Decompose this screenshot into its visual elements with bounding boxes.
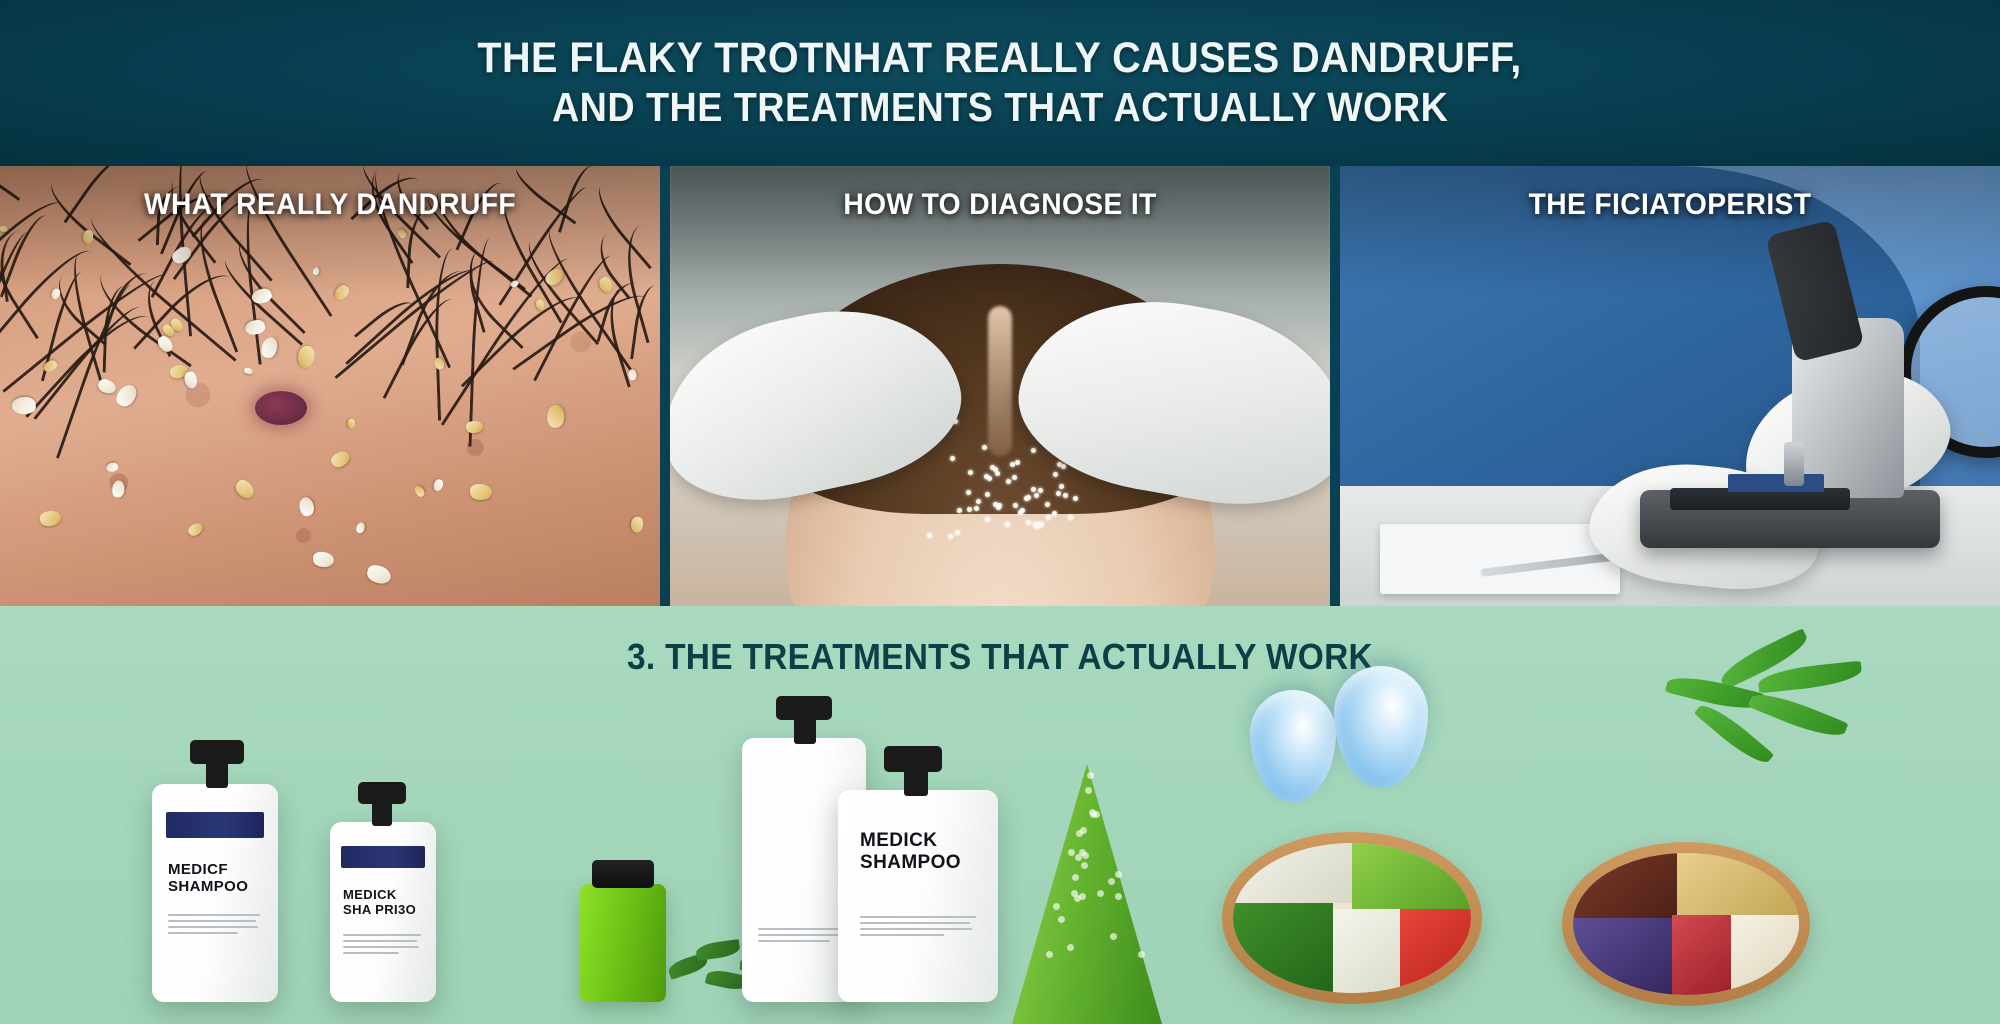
scalp-flake: [1026, 520, 1031, 525]
bottle-label-line-2: SHAMPOO: [168, 879, 248, 896]
aloe-spot: [1076, 830, 1083, 837]
aloe-spot: [1046, 951, 1053, 958]
scalp-flake: [1018, 510, 1023, 515]
aloe-spot: [1085, 787, 1092, 794]
bottle-label-band: [166, 812, 264, 838]
scalp-flake: [955, 530, 960, 535]
panel-scrim: [1340, 166, 2000, 296]
aloe-spot: [1058, 916, 1065, 923]
aloe-spot: [1053, 903, 1060, 910]
bottle-label-line-2: SHA PRI3O: [343, 903, 416, 918]
aloe-spot: [1108, 878, 1115, 885]
infographic-page: THE FLAKY TROTNHAT REALLY CAUSES DANDRUF…: [0, 0, 2000, 1024]
aloe-spot: [1138, 951, 1145, 958]
aloe-spot: [1075, 854, 1082, 861]
treatments-section: 3. THE TREATMENTS THAT ACTUALLY WORK MED…: [0, 606, 2000, 1024]
berry-nut-bowl-contents: [1573, 853, 1799, 995]
shampoo-bottle-small-left[interactable]: MEDICK SHA PRI3O: [330, 822, 436, 1002]
bottle-label-line-1: MEDICF: [168, 862, 228, 879]
bottle-fineprint: [758, 928, 848, 942]
water-droplet-right: [1334, 666, 1428, 788]
scalp-flake: [1068, 515, 1073, 520]
dandruff-flake: [546, 405, 564, 429]
panel-scrim: [670, 166, 1330, 296]
scalp-flake: [997, 503, 1002, 508]
scalp-flake: [1024, 496, 1029, 501]
header-title-line-2: AND THE TREATMENTS THAT ACTUALLY WORK: [552, 87, 1448, 129]
water-droplet-left: [1250, 690, 1336, 802]
scalp-flake: [1056, 491, 1061, 496]
aloe-spot: [1115, 871, 1122, 878]
panel-scrim: [0, 166, 660, 296]
bottle-fineprint: [860, 916, 976, 936]
panel-how-to-diagnose[interactable]: HOW TO DIAGNOSE IT: [670, 166, 1330, 606]
scalp-flake: [1010, 462, 1015, 467]
shampoo-bottle-large-left[interactable]: MEDICF SHAMPOO: [152, 784, 278, 1002]
panel-row: WHAT REALLY DANDRUFF HOW TO DIAGNOSE IT: [0, 166, 2000, 606]
scalp-flake: [948, 534, 953, 539]
bottle-fineprint: [343, 934, 421, 954]
bottle-label-line-1: MEDICK: [860, 830, 937, 851]
aloe-spot: [1110, 933, 1117, 940]
vegetable-bowl-contents: [1233, 843, 1471, 993]
scalp-flake: [950, 456, 955, 461]
aloe-spot: [1068, 849, 1075, 856]
scalp-flake: [967, 507, 972, 512]
green-plant-sprig: [1630, 648, 1870, 828]
microscope-objective: [1784, 442, 1804, 486]
dandruff-flake: [627, 369, 637, 381]
scalp-flake: [957, 508, 962, 513]
oil-jar-cap: [592, 860, 654, 888]
panel-3-title: THE FICIATOPERIST: [1360, 188, 1980, 222]
scalp-flake: [976, 499, 981, 504]
panel-1-title: WHAT REALLY DANDRUFF: [20, 188, 640, 222]
panel-2-title: HOW TO DIAGNOSE IT: [690, 188, 1310, 222]
panel-the-ficiatoperist[interactable]: THE FICIATOPERIST: [1340, 166, 2000, 606]
bottle-pump-neck-large-left: [206, 758, 228, 788]
scalp-flake: [995, 471, 1000, 476]
scalp-flake: [985, 492, 990, 497]
bottle-fineprint: [168, 914, 260, 934]
header-banner: THE FLAKY TROTNHAT REALLY CAUSES DANDRUF…: [0, 0, 2000, 166]
scalp-flake: [1073, 496, 1078, 501]
scalp-flake: [1031, 487, 1036, 492]
product-stage: MEDICF SHAMPOO MEDICK SHA PRI3O: [0, 702, 2000, 1024]
aloe-spot: [1072, 874, 1079, 881]
bottle-pump-neck-tall-center: [794, 714, 816, 744]
scalp-flake: [1013, 503, 1018, 508]
dandruff-flake: [470, 484, 492, 500]
panel-what-really-dandruff[interactable]: WHAT REALLY DANDRUFF: [0, 166, 660, 606]
bottle-pump-neck-center: [904, 766, 928, 796]
oil-jar-green[interactable]: [580, 884, 666, 1002]
header-title-line-1: THE FLAKY TROTNHAT REALLY CAUSES DANDRUF…: [478, 37, 1522, 81]
aloe-vera-leaf: [1012, 764, 1162, 1024]
scalp-lesion: [255, 391, 307, 425]
bottle-label-band: [341, 846, 425, 868]
scalp-flake: [1031, 448, 1036, 453]
scalp-flake: [982, 445, 987, 450]
bottle-label-line-2: SHAMPOO: [860, 852, 961, 873]
aloe-spot: [1071, 890, 1078, 897]
shampoo-bottle-center-pump[interactable]: MEDICK SHAMPOO: [838, 790, 998, 1002]
microscope-slide: [1728, 474, 1824, 492]
bottle-pump-neck-small-left: [372, 798, 392, 826]
berry-nut-bowl[interactable]: [1562, 842, 1810, 1006]
scalp-flake: [1045, 502, 1050, 507]
bottle-label-line-1: MEDICK: [343, 888, 397, 903]
vegetable-bowl[interactable]: [1222, 832, 1482, 1004]
aloe-spot: [1067, 944, 1074, 951]
aloe-spot: [1087, 772, 1094, 779]
aloe-spot: [1097, 890, 1104, 897]
hair-parting: [988, 306, 1012, 456]
aloe-spot: [1082, 852, 1089, 859]
